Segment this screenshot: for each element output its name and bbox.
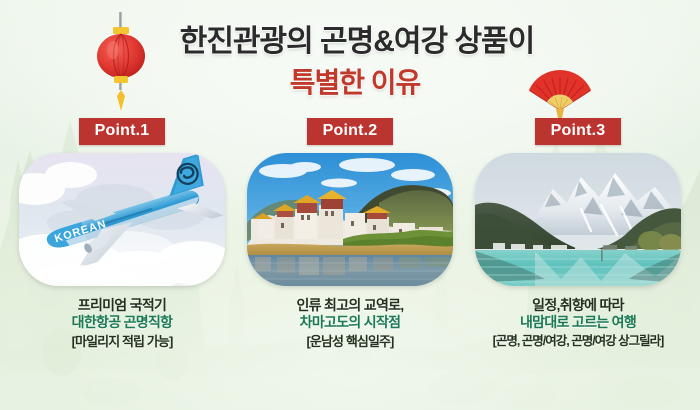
caption-1: 프리미엄 국적기 대한항공 곤명직항 [마일리지 적립 가능] <box>8 297 236 350</box>
caption-1-line-3: [마일리지 적립 가능] <box>8 333 236 350</box>
caption-3: 일정,취향에 따라 내맘대로 고르는 여행 [곤명, 곤명/여강, 곤명/여강 … <box>464 297 692 350</box>
photo-korean-air[interactable]: KOREAN <box>19 153 225 286</box>
point-column-1: Point.1 <box>8 118 236 350</box>
caption-3-line-2: 내맘대로 고르는 여행 <box>464 314 692 331</box>
point-column-2: Point.2 <box>236 118 464 350</box>
chinese-folding-fan-icon <box>524 58 596 120</box>
caption-3-line-3: [곤명, 곤명/여강, 곤명/여강 상그릴라] <box>464 333 692 350</box>
caption-2: 인류 최고의 교역로, 차마고도의 시작점 [운남성 핵심일주] <box>236 297 464 350</box>
points-row: Point.1 <box>0 118 700 408</box>
snow-mountain-turquoise-lake-icon <box>475 153 681 286</box>
page-title: 한진관광의 곤명&여강 상품이 <box>0 22 700 62</box>
photo-snow-mountain-lake[interactable] <box>475 153 681 286</box>
tibetan-monastery-lake-icon <box>247 153 453 286</box>
caption-2-line-2: 차마고도의 시작점 <box>236 314 464 331</box>
banner-header: 한진관광의 곤명&여강 상품이 특별한 이유 <box>0 0 700 120</box>
photo-songzanlin-monastery[interactable] <box>247 153 453 286</box>
point-column-3: Point.3 <box>464 118 692 350</box>
badge-point-2: Point.2 <box>307 118 394 145</box>
caption-1-line-2: 대한항공 곤명직항 <box>8 314 236 331</box>
badge-point-3: Point.3 <box>535 118 622 145</box>
caption-1-line-1: 프리미엄 국적기 <box>8 297 236 314</box>
caption-3-line-1: 일정,취향에 따라 <box>464 297 692 314</box>
promo-banner: 한진관광의 곤명&여강 상품이 특별한 이유 <box>0 0 700 410</box>
caption-2-line-1: 인류 최고의 교역로, <box>236 297 464 314</box>
caption-2-line-3: [운남성 핵심일주] <box>236 333 464 350</box>
badge-point-1: Point.1 <box>79 118 166 145</box>
korean-air-airplane-icon: KOREAN <box>19 153 225 286</box>
